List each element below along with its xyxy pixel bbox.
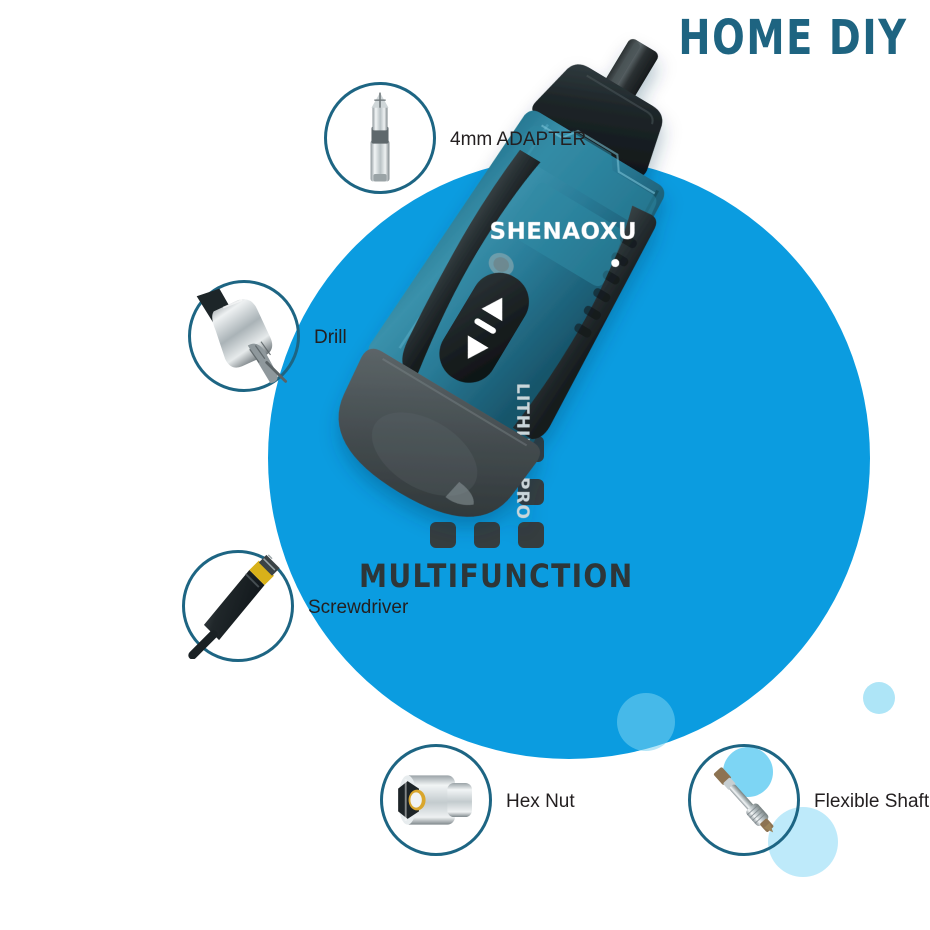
brand-text: SHENAOXU (489, 219, 637, 245)
product-image-electric-screwdriver: SHENAOXU MAX (398, 30, 918, 590)
screwdriver-bit-adapter-icon (327, 85, 433, 191)
feature-ring (188, 280, 300, 392)
feature-ring (182, 550, 294, 662)
flexible-shaft-icon (691, 747, 797, 853)
feature-ring (688, 744, 800, 856)
feature-ring (380, 744, 492, 856)
product-infographic: HOME DIY MULTIFUNCTION (0, 0, 930, 930)
bokeh-circle (617, 693, 675, 751)
drill-chuck-icon (191, 283, 297, 389)
hex-socket-icon (383, 747, 489, 853)
feature-ring (324, 82, 436, 194)
screwdriver-bit-holder-icon (185, 553, 291, 659)
bokeh-circle (863, 682, 895, 714)
